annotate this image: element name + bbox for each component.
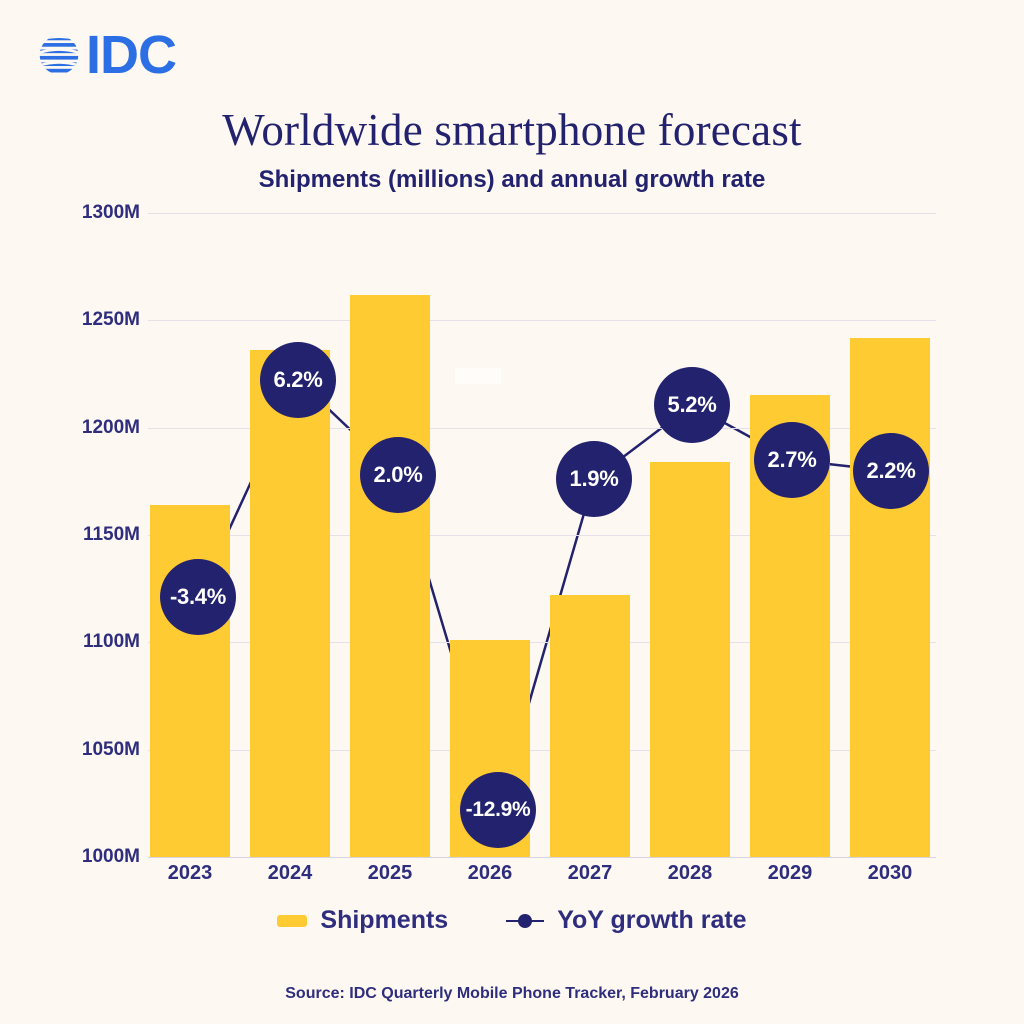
chart-legend: Shipments YoY growth rate (0, 906, 1024, 935)
x-axis-label-2028: 2028 (640, 862, 740, 885)
growth-marker-2026[interactable]: -12.9% (460, 772, 536, 848)
growth-marker-2027[interactable]: 1.9% (556, 441, 632, 517)
legend-label-shipments: Shipments (320, 906, 448, 935)
bar-swatch-icon (277, 915, 307, 927)
bar-2027[interactable] (550, 595, 630, 857)
growth-marker-2029[interactable]: 2.7% (754, 422, 830, 498)
bar-2028[interactable] (650, 462, 730, 857)
plot-area: 1000M1050M1100M1150M1200M1250M1300M20232… (0, 0, 1024, 1024)
growth-marker-2025[interactable]: 2.0% (360, 437, 436, 513)
growth-marker-2028[interactable]: 5.2% (654, 367, 730, 443)
bar-2030[interactable] (850, 338, 930, 857)
source-note: Source: IDC Quarterly Mobile Phone Track… (0, 985, 1024, 1003)
line-dot-swatch-icon (506, 914, 544, 928)
x-axis-label-2026: 2026 (440, 862, 540, 885)
chart-canvas: IDC Worldwide smartphone forecast Shipme… (0, 0, 1024, 1024)
axis-baseline (148, 857, 936, 858)
growth-marker-2024[interactable]: 6.2% (260, 342, 336, 418)
x-axis-label-2025: 2025 (340, 862, 440, 885)
legend-label-yoy-growth-rate: YoY growth rate (557, 906, 746, 935)
x-axis-label-2029: 2029 (740, 862, 840, 885)
x-axis-label-2027: 2027 (540, 862, 640, 885)
legend-item-shipments[interactable]: Shipments (277, 906, 448, 935)
growth-marker-2030[interactable]: 2.2% (853, 433, 929, 509)
x-axis-label-2024: 2024 (240, 862, 340, 885)
x-axis-label-2030: 2030 (840, 862, 940, 885)
legend-item-yoy-growth-rate[interactable]: YoY growth rate (506, 906, 746, 935)
x-axis-label-2023: 2023 (140, 862, 240, 885)
watermark (455, 368, 501, 384)
bar-2025[interactable] (350, 295, 430, 857)
growth-marker-2023[interactable]: -3.4% (160, 559, 236, 635)
bar-2024[interactable] (250, 350, 330, 857)
gridline (148, 213, 936, 214)
gridline (148, 320, 936, 321)
bar-2023[interactable] (150, 505, 230, 857)
